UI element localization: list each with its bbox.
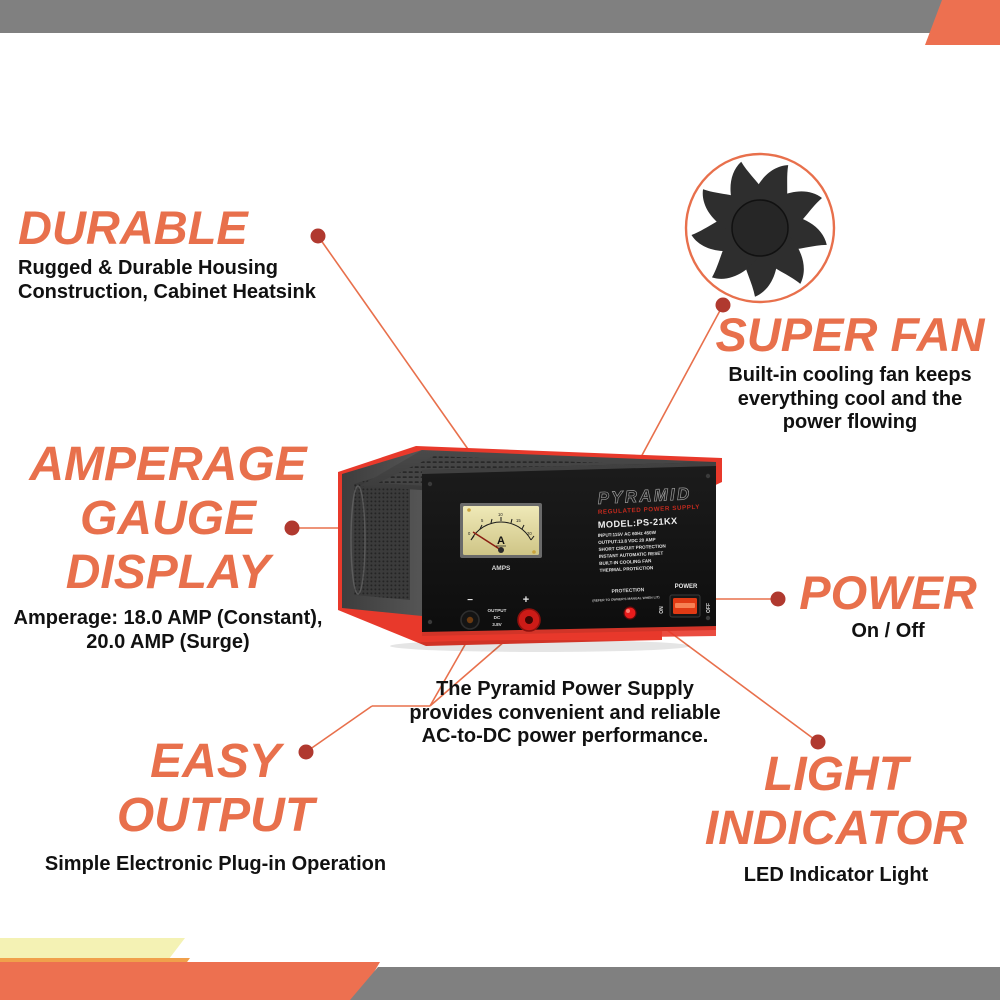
callout-amperage-body: Amperage: 18.0 AMP (Constant), 20.0 AMP … <box>8 607 328 654</box>
gauge-caption: AMPS <box>492 565 511 572</box>
callout-light-indicator-body: LED Indicator Light <box>676 864 996 888</box>
callout-durable-body: Rugged & Durable Housing Construction, C… <box>18 257 348 304</box>
callout-durable: DURABLE Rugged & Durable Housing Constru… <box>18 205 348 304</box>
callout-super-fan: SUPER FAN Built-in cooling fan keeps eve… <box>700 312 1000 435</box>
svg-text:20: 20 <box>527 531 532 536</box>
callout-amperage-title: AMPERAGE GAUGE DISPLAY <box>8 438 328 599</box>
terminal-label-1: DC <box>494 615 501 620</box>
bottom-cream-band <box>0 938 185 960</box>
callout-easy-output-body: Simple Electronic Plug-in Operation <box>28 853 403 877</box>
power-switch-label: POWER <box>675 584 698 590</box>
center-description: The Pyramid Power Supply provides conven… <box>400 678 730 749</box>
callout-easy-output: EASY OUTPUT Simple Electronic Plug-in Op… <box>28 735 403 876</box>
bottom-orange-band <box>0 962 380 1000</box>
power-on-label: ON <box>659 606 665 614</box>
power-supply-device: 0 5 10 15 20 A AMPS PYRAMID REGULATED PO… <box>330 440 734 658</box>
top-gray-band <box>0 0 970 33</box>
callout-amperage: AMPERAGE GAUGE DISPLAY Amperage: 18.0 AM… <box>8 438 328 654</box>
positive-symbol: + <box>523 594 529 606</box>
callout-power: POWER On / Off <box>788 570 988 644</box>
bottom-gray-band <box>350 967 1000 1000</box>
leader-dot-power <box>771 592 786 607</box>
gauge-unit-symbol: A <box>497 535 505 547</box>
callout-light-indicator: LIGHT INDICATOR LED Indicator Light <box>676 748 996 887</box>
protection-led <box>624 607 636 619</box>
amperage-gauge: 0 5 10 15 20 A <box>460 503 542 558</box>
cooling-fan-illustration <box>684 152 836 304</box>
infographic-canvas: 0 5 10 15 20 A AMPS PYRAMID REGULATED PO… <box>0 0 1000 1000</box>
power-off-label: OFF <box>706 603 712 613</box>
callout-power-title: POWER <box>788 570 988 616</box>
svg-text:10: 10 <box>498 512 503 517</box>
callout-power-body: On / Off <box>788 620 988 644</box>
terminal-label-2: 3.8V <box>492 622 502 627</box>
callout-durable-title: DURABLE <box>18 205 348 251</box>
callout-light-indicator-title: LIGHT INDICATOR <box>676 748 996 856</box>
negative-symbol: − <box>467 595 473 606</box>
svg-text:15: 15 <box>516 518 521 523</box>
fan-hub-icon <box>732 200 788 256</box>
terminal-label-0: OUTPUT <box>488 608 507 613</box>
callout-easy-output-title: EASY OUTPUT <box>28 735 403 843</box>
callout-super-fan-title: SUPER FAN <box>700 312 1000 358</box>
callout-super-fan-body: Built-in cooling fan keeps everything co… <box>700 364 1000 435</box>
center-description-text: The Pyramid Power Supply provides conven… <box>400 678 730 749</box>
